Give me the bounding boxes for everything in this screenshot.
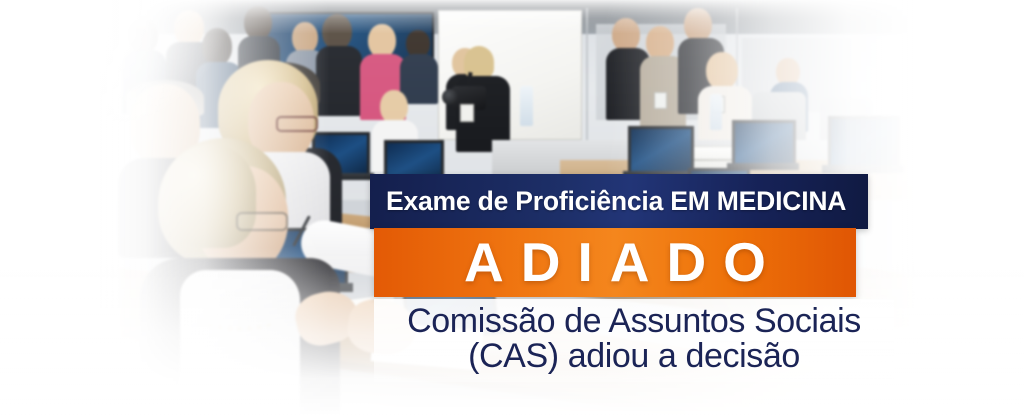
subtitle-line-1: Comissão de Assuntos Sociais (384, 304, 884, 339)
title-text: Exame de Proficiência EM MEDICINA (370, 186, 846, 217)
title-banner: Exame de Proficiência EM MEDICINA (370, 174, 868, 229)
subtitle-block: Comissão de Assuntos Sociais (CAS) adiou… (374, 299, 894, 382)
status-word: ADIADO (447, 235, 783, 290)
status-banner: ADIADO (374, 228, 856, 297)
subtitle-line-2: (CAS) adiou a decisão (384, 339, 884, 374)
news-banner: Exame de Proficiência EM MEDICINA ADIADO… (0, 0, 1024, 416)
headline-overlay: Exame de Proficiência EM MEDICINA ADIADO… (0, 0, 1024, 416)
